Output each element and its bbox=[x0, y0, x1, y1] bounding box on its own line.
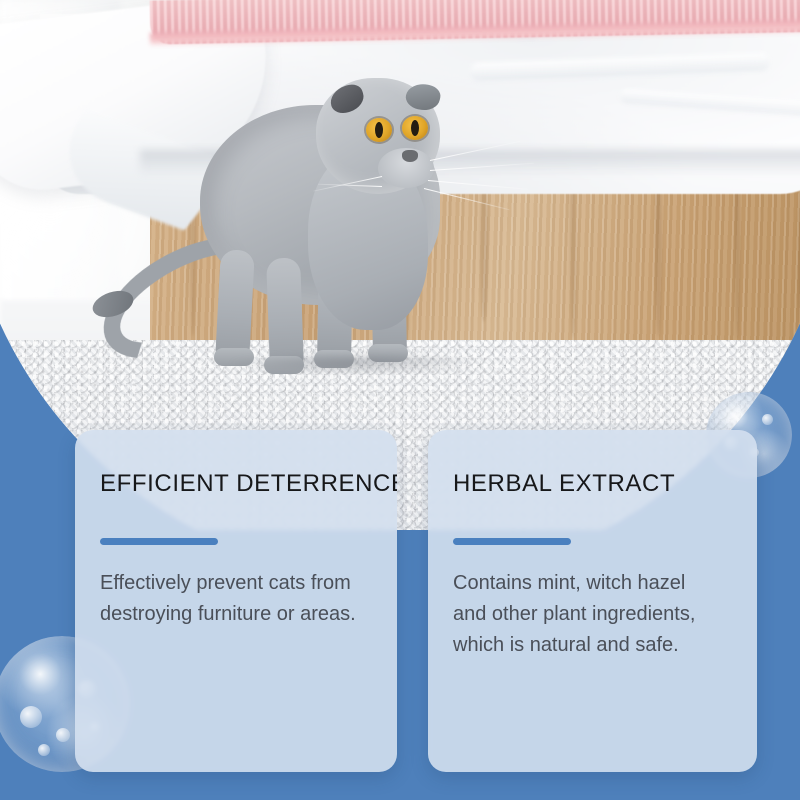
product-feature-poster: EFFICIENT DETERRENCE Effectively prevent… bbox=[0, 0, 800, 800]
feature-card-title: HERBAL EXTRACT bbox=[453, 470, 675, 498]
cat-pupil-left bbox=[375, 122, 383, 138]
feature-card-efficient-deterrence: EFFICIENT DETERRENCE Effectively prevent… bbox=[75, 430, 397, 772]
feature-card-title: EFFICIENT DETERRENCE bbox=[100, 470, 397, 498]
cat-pupil-right bbox=[411, 120, 419, 136]
feature-card-accent-rule bbox=[453, 538, 571, 545]
feature-card-body: Contains mint, witch hazel and other pla… bbox=[453, 568, 698, 661]
hero-photo bbox=[0, 0, 800, 470]
feature-card-herbal-extract: HERBAL EXTRACT Contains mint, witch haze… bbox=[428, 430, 757, 772]
feature-card-body: Effectively prevent cats from destroying… bbox=[100, 568, 370, 630]
cat-leg-rear-left bbox=[215, 249, 255, 361]
grey-cat bbox=[0, 0, 800, 470]
cat-ground-shadow bbox=[230, 352, 480, 374]
cat-nose bbox=[402, 150, 418, 162]
feature-card-accent-rule bbox=[100, 538, 218, 545]
